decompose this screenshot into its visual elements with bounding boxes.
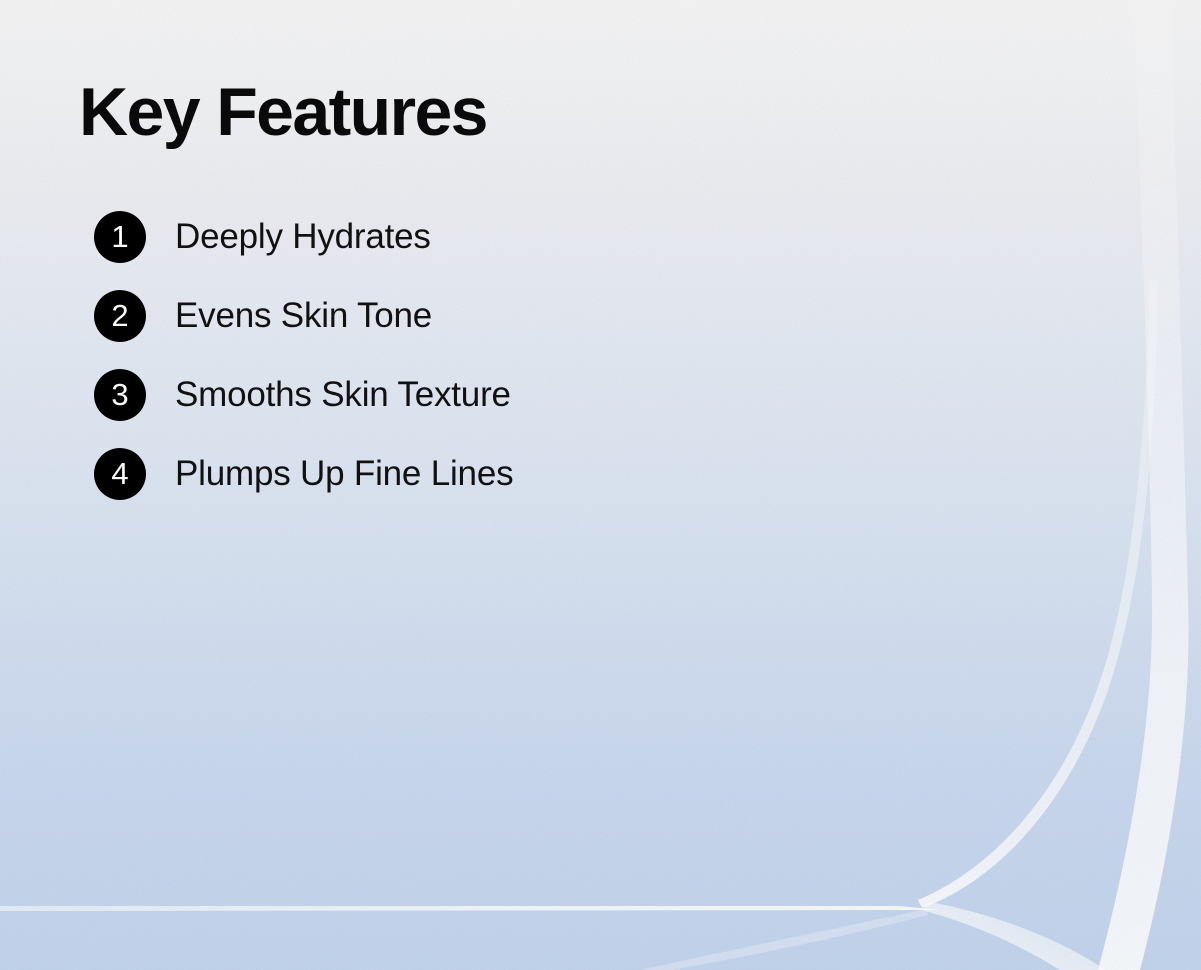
feature-label: Plumps Up Fine Lines: [175, 454, 513, 494]
feature-label: Evens Skin Tone: [175, 296, 432, 336]
key-features-slide: Key Features 1 Deeply Hydrates 2 Evens S…: [0, 0, 1201, 970]
list-item: 2 Evens Skin Tone: [94, 290, 513, 342]
feature-number-badge: 3: [94, 369, 146, 421]
list-item: 4 Plumps Up Fine Lines: [94, 448, 513, 500]
feature-label: Deeply Hydrates: [175, 217, 431, 257]
page-title: Key Features: [79, 78, 487, 146]
feature-number-badge: 1: [94, 211, 146, 263]
feature-number-badge: 2: [94, 290, 146, 342]
list-item: 3 Smooths Skin Texture: [94, 369, 513, 421]
slide-content: Key Features 1 Deeply Hydrates 2 Evens S…: [0, 0, 1201, 970]
list-item: 1 Deeply Hydrates: [94, 211, 513, 263]
feature-list: 1 Deeply Hydrates 2 Evens Skin Tone 3 Sm…: [94, 211, 513, 500]
feature-label: Smooths Skin Texture: [175, 375, 511, 415]
feature-number-badge: 4: [94, 448, 146, 500]
